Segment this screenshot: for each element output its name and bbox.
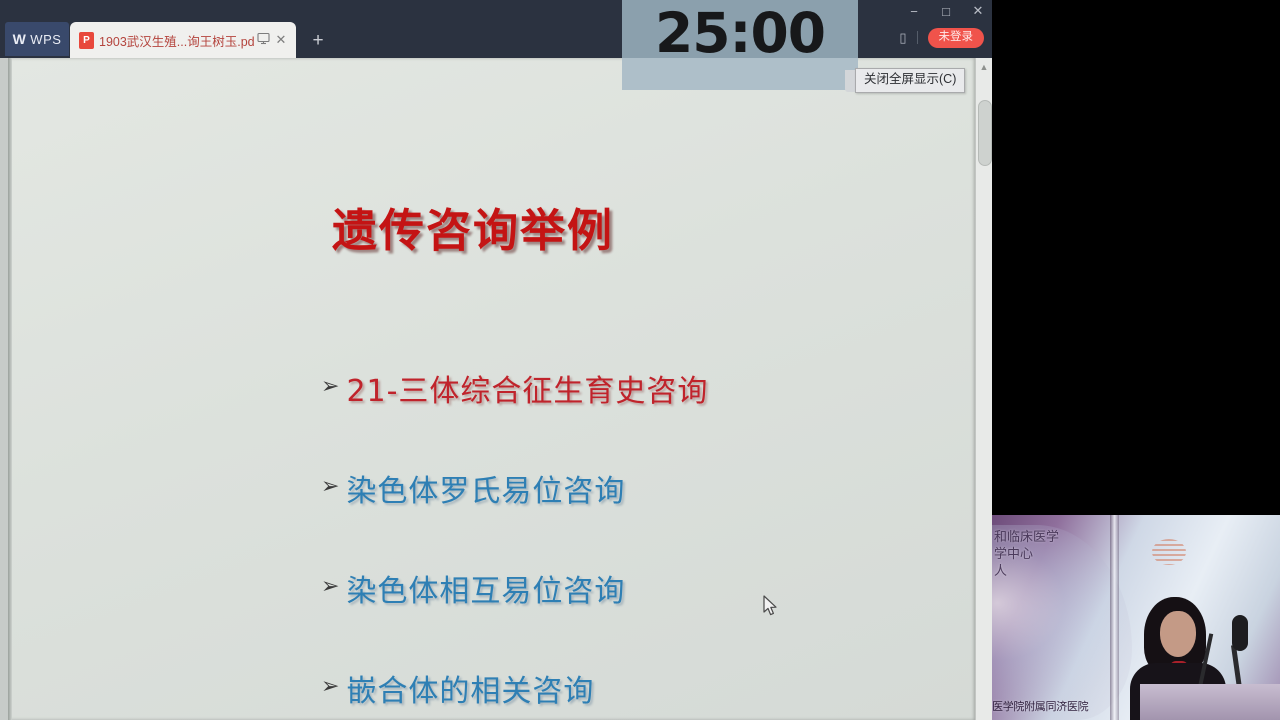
speaker-video-feed[interactable]: 和临床医学 学中心 人 医学院附属同济医院 <box>992 515 1280 720</box>
minimize-icon[interactable]: − <box>906 4 922 19</box>
right-black-panel: 和临床医学 学中心 人 医学院附属同济医院 <box>992 0 1280 720</box>
bullet-arrow-icon: ➢ <box>321 676 340 698</box>
video-stage-ripple <box>1152 539 1186 565</box>
video-banner-text: 医学院附属同济医院 <box>992 698 1088 714</box>
login-status-badge[interactable]: 未登录 <box>928 28 985 48</box>
bullet-arrow-icon: ➢ <box>321 576 340 598</box>
slide-bullet-3-text: 染色体相互易位咨询 <box>346 566 625 610</box>
slide-bullet-2: ➢ 染色体罗氏易位咨询 <box>321 466 625 510</box>
scroll-up-arrow-icon[interactable]: ▲ <box>976 60 992 74</box>
bullet-arrow-icon: ➢ <box>321 376 340 398</box>
slide-bullet-1: ➢ 21-三体综合征生育史咨询 <box>321 366 708 410</box>
presentation-timer: 25:00 <box>622 0 858 90</box>
video-screen-line-3: 人 <box>994 563 1059 580</box>
account-row: ▯ 未登录 <box>899 28 984 48</box>
window-controls: − □ ✕ <box>906 3 986 19</box>
pdf-file-icon: P <box>79 32 94 49</box>
video-screen-line-2: 学中心 <box>994 546 1059 563</box>
microphone-head <box>1232 615 1248 651</box>
wps-window: W WPS P 1903武汉生殖...询王树玉.pdf ✕ + − □ <box>0 0 992 720</box>
toolbar-divider <box>917 31 918 44</box>
bullet-arrow-icon: ➢ <box>321 476 340 498</box>
vertical-scrollbar[interactable]: ▲ <box>975 58 992 720</box>
tab-document[interactable]: P 1903武汉生殖...询王树玉.pdf ✕ <box>70 22 296 58</box>
maximize-icon[interactable]: □ <box>938 4 954 19</box>
slide-bullet-4-text: 嵌合体的相关咨询 <box>346 666 594 710</box>
slide-bullet-2-text: 染色体罗氏易位咨询 <box>346 466 625 510</box>
wps-logo-button[interactable]: W WPS <box>5 22 69 56</box>
document-viewport[interactable]: 遗传咨询举例 ➢ 21-三体综合征生育史咨询 ➢ 染色体罗氏易位咨询 ➢ 染色体… <box>0 58 992 720</box>
slide-bullet-1-text: 21-三体综合征生育史咨询 <box>346 366 708 410</box>
fullscreen-tooltip: 关闭全屏显示(C) <box>855 68 965 93</box>
slide-bullet-3: ➢ 染色体相互易位咨询 <box>321 566 625 610</box>
scrollbar-thumb[interactable] <box>978 100 992 166</box>
screen-root: W WPS P 1903武汉生殖...询王树玉.pdf ✕ + − □ <box>0 0 1280 720</box>
wps-logo-label: WPS <box>30 32 61 47</box>
podium <box>1140 684 1280 720</box>
video-stage-screen-text: 和临床医学 学中心 人 <box>994 529 1059 580</box>
tab-close-icon[interactable]: ✕ <box>272 32 290 48</box>
mouse-cursor-icon <box>762 595 780 619</box>
new-tab-button[interactable]: + <box>305 28 331 54</box>
timer-value: 25:00 <box>622 6 858 61</box>
document-mode-icon[interactable]: ▯ <box>899 30 906 46</box>
slide-canvas: 遗传咨询举例 ➢ 21-三体综合征生育史咨询 ➢ 染色体罗氏易位咨询 ➢ 染色体… <box>8 58 976 720</box>
video-stage-pillar <box>1110 515 1119 720</box>
present-monitor-icon[interactable] <box>254 32 272 48</box>
close-window-icon[interactable]: ✕ <box>970 3 986 19</box>
slide-title: 遗传咨询举例 <box>8 194 938 259</box>
video-screen-line-1: 和临床医学 <box>994 529 1059 546</box>
speaker-face <box>1160 611 1196 657</box>
slide-bullet-4: ➢ 嵌合体的相关咨询 <box>321 666 594 710</box>
tab-title-label: 1903武汉生殖...询王树玉.pdf <box>99 31 254 50</box>
wps-logo-glyph: W <box>13 32 27 46</box>
